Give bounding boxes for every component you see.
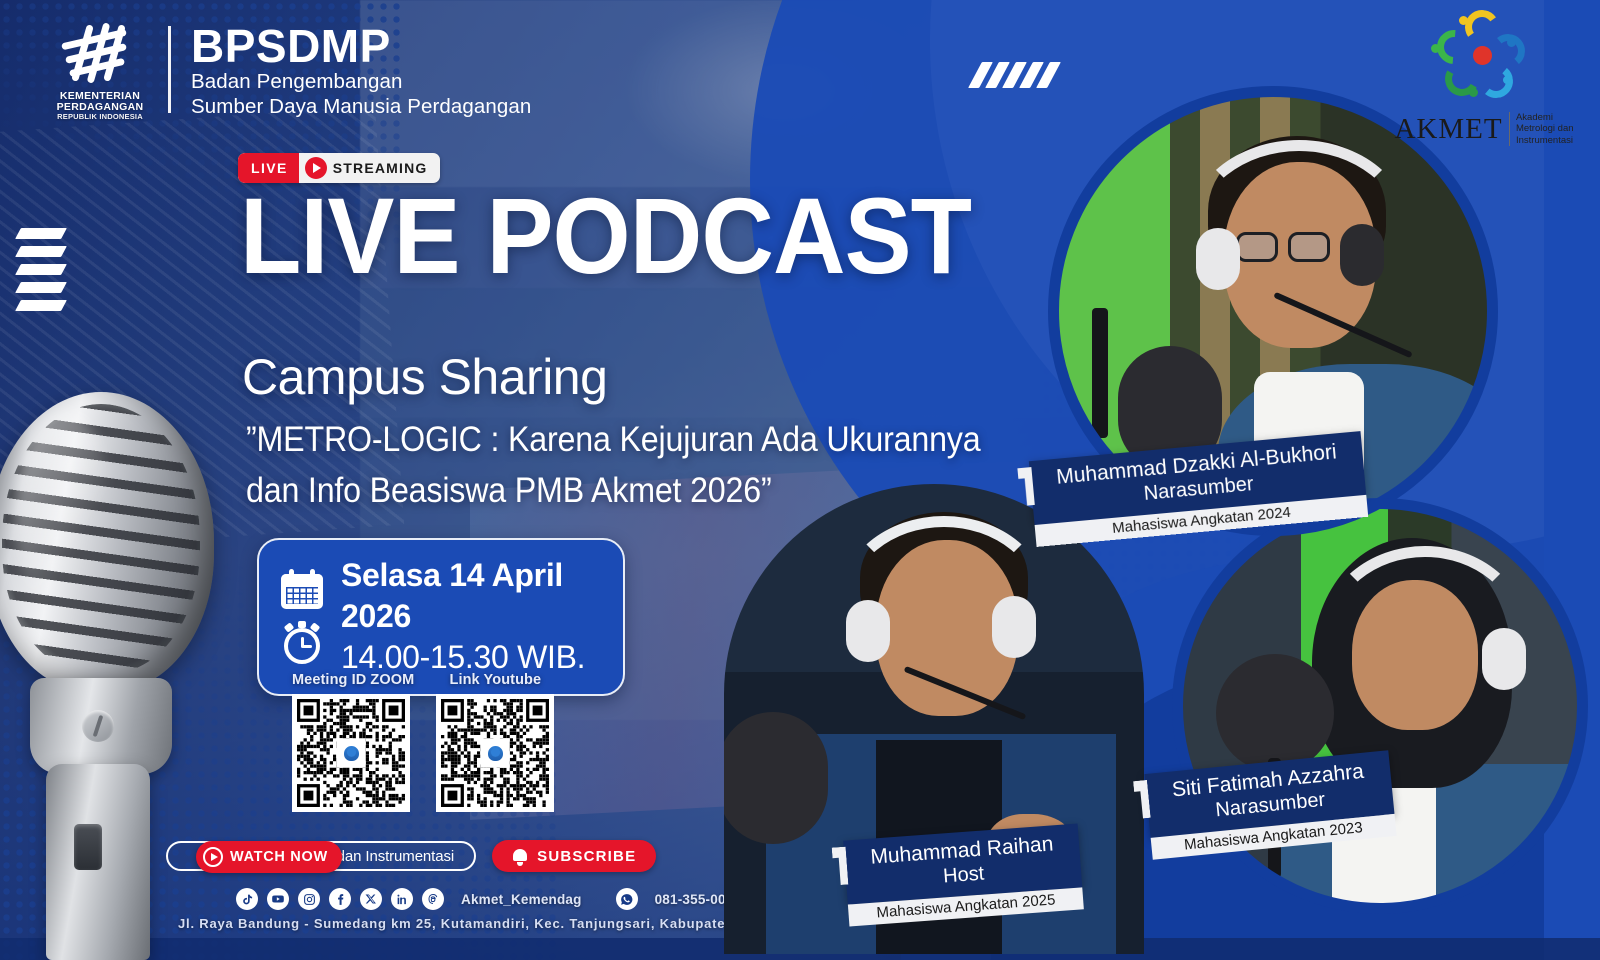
vintage-microphone-illustration bbox=[0, 392, 232, 960]
live-streaming-badge: LIVE STREAMING bbox=[238, 153, 440, 183]
whatsapp-icon[interactable] bbox=[616, 888, 638, 910]
youtube-qr-code[interactable] bbox=[436, 694, 554, 812]
akmet-subtitle: Akademi Metrologi dan Instrumentasi bbox=[1516, 112, 1574, 146]
youtube-qr-block: Link Youtube bbox=[436, 672, 554, 812]
akmet-swirl-icon bbox=[1429, 10, 1539, 110]
youtube-qr-label: Link Youtube bbox=[436, 672, 554, 688]
facebook-icon[interactable] bbox=[329, 888, 351, 910]
tiktok-icon[interactable] bbox=[236, 888, 258, 910]
page-title: LIVE PODCAST bbox=[240, 186, 971, 285]
akmet-sub-line-1: Akademi bbox=[1516, 112, 1574, 123]
akmet-name: AKMET bbox=[1394, 113, 1502, 146]
calendar-icon bbox=[281, 569, 323, 609]
bell-icon bbox=[512, 848, 528, 865]
kemendag-logo: KEMENTERIAN PERDAGANGAN REPUBLIK INDONES… bbox=[52, 22, 148, 121]
event-date: Selasa 14 April 2026 bbox=[341, 555, 603, 637]
akmet-wordmark: AKMET Akademi Metrologi dan Instrumentas… bbox=[1386, 112, 1582, 146]
akmet-sub-line-3: Instrumentasi bbox=[1516, 135, 1574, 146]
bpsdmp-brand: BPSDMP Badan Pengembangan Sumber Daya Ma… bbox=[191, 22, 531, 119]
threads-icon[interactable] bbox=[422, 888, 444, 910]
akmet-logo-block: AKMET Akademi Metrologi dan Instrumentas… bbox=[1386, 6, 1582, 146]
instagram-icon[interactable] bbox=[298, 888, 320, 910]
subscribe-button[interactable]: SUBSCRIBE bbox=[492, 840, 656, 872]
qr-code-section: Meeting ID ZOOM Link Youtube bbox=[292, 672, 554, 812]
play-icon bbox=[305, 157, 327, 179]
schedule-icons bbox=[281, 569, 323, 663]
ministry-name: KEMENTERIAN PERDAGANGAN REPUBLIK INDONES… bbox=[52, 91, 148, 121]
linkedin-icon[interactable] bbox=[391, 888, 413, 910]
akmet-sub-line-2: Metrologi dan bbox=[1516, 123, 1574, 134]
subscribe-label: SUBSCRIBE bbox=[537, 848, 636, 865]
poster-canvas: KEMENTERIAN PERDAGANGAN REPUBLIK INDONES… bbox=[0, 0, 1600, 960]
zoom-qr-center-logo bbox=[338, 740, 364, 766]
topic-line-1: ”METRO-LOGIC : Karena Kejujuran Ada Ukur… bbox=[246, 414, 980, 465]
clock-icon bbox=[281, 621, 323, 663]
brand-acronym: BPSDMP bbox=[191, 24, 531, 69]
streaming-label: STREAMING bbox=[333, 160, 440, 176]
zoom-qr-block: Meeting ID ZOOM bbox=[292, 672, 414, 812]
schedule-text: Selasa 14 April 2026 14.00-15.30 WIB. bbox=[341, 555, 603, 678]
brand-subtitle-line-1: Badan Pengembangan bbox=[191, 69, 531, 94]
akmet-divider bbox=[1509, 112, 1510, 146]
speaker-2-photo-ring bbox=[1172, 498, 1588, 914]
kemendag-emblem-icon bbox=[57, 22, 143, 88]
host-nameplate: Muhammad Raihan Host Mahasiswa Angkatan … bbox=[843, 823, 1084, 926]
program-name: Campus Sharing bbox=[242, 348, 607, 406]
social-handle: Akmet_Kemendag bbox=[461, 892, 582, 907]
ministry-line-3: REPUBLIK INDONESIA bbox=[52, 113, 148, 121]
watch-now-label: WATCH NOW bbox=[230, 849, 328, 865]
header-logo-block: KEMENTERIAN PERDAGANGAN REPUBLIK INDONES… bbox=[52, 22, 531, 121]
zoom-qr-code[interactable] bbox=[292, 694, 410, 812]
slash-decoration-top bbox=[975, 62, 1054, 88]
youtube-qr-center-logo bbox=[482, 740, 508, 766]
x-icon[interactable] bbox=[360, 888, 382, 910]
brand-subtitle-line-2: Sumber Daya Manusia Perdagangan bbox=[191, 94, 531, 119]
header-divider bbox=[168, 26, 171, 113]
zoom-qr-label: Meeting ID ZOOM bbox=[292, 672, 414, 688]
youtube-icon[interactable] bbox=[267, 888, 289, 910]
slash-decoration-left bbox=[18, 228, 64, 311]
live-label: LIVE bbox=[238, 153, 299, 183]
cta-row: Akademi Metrologi dan Instrumentasi WATC… bbox=[196, 840, 656, 872]
